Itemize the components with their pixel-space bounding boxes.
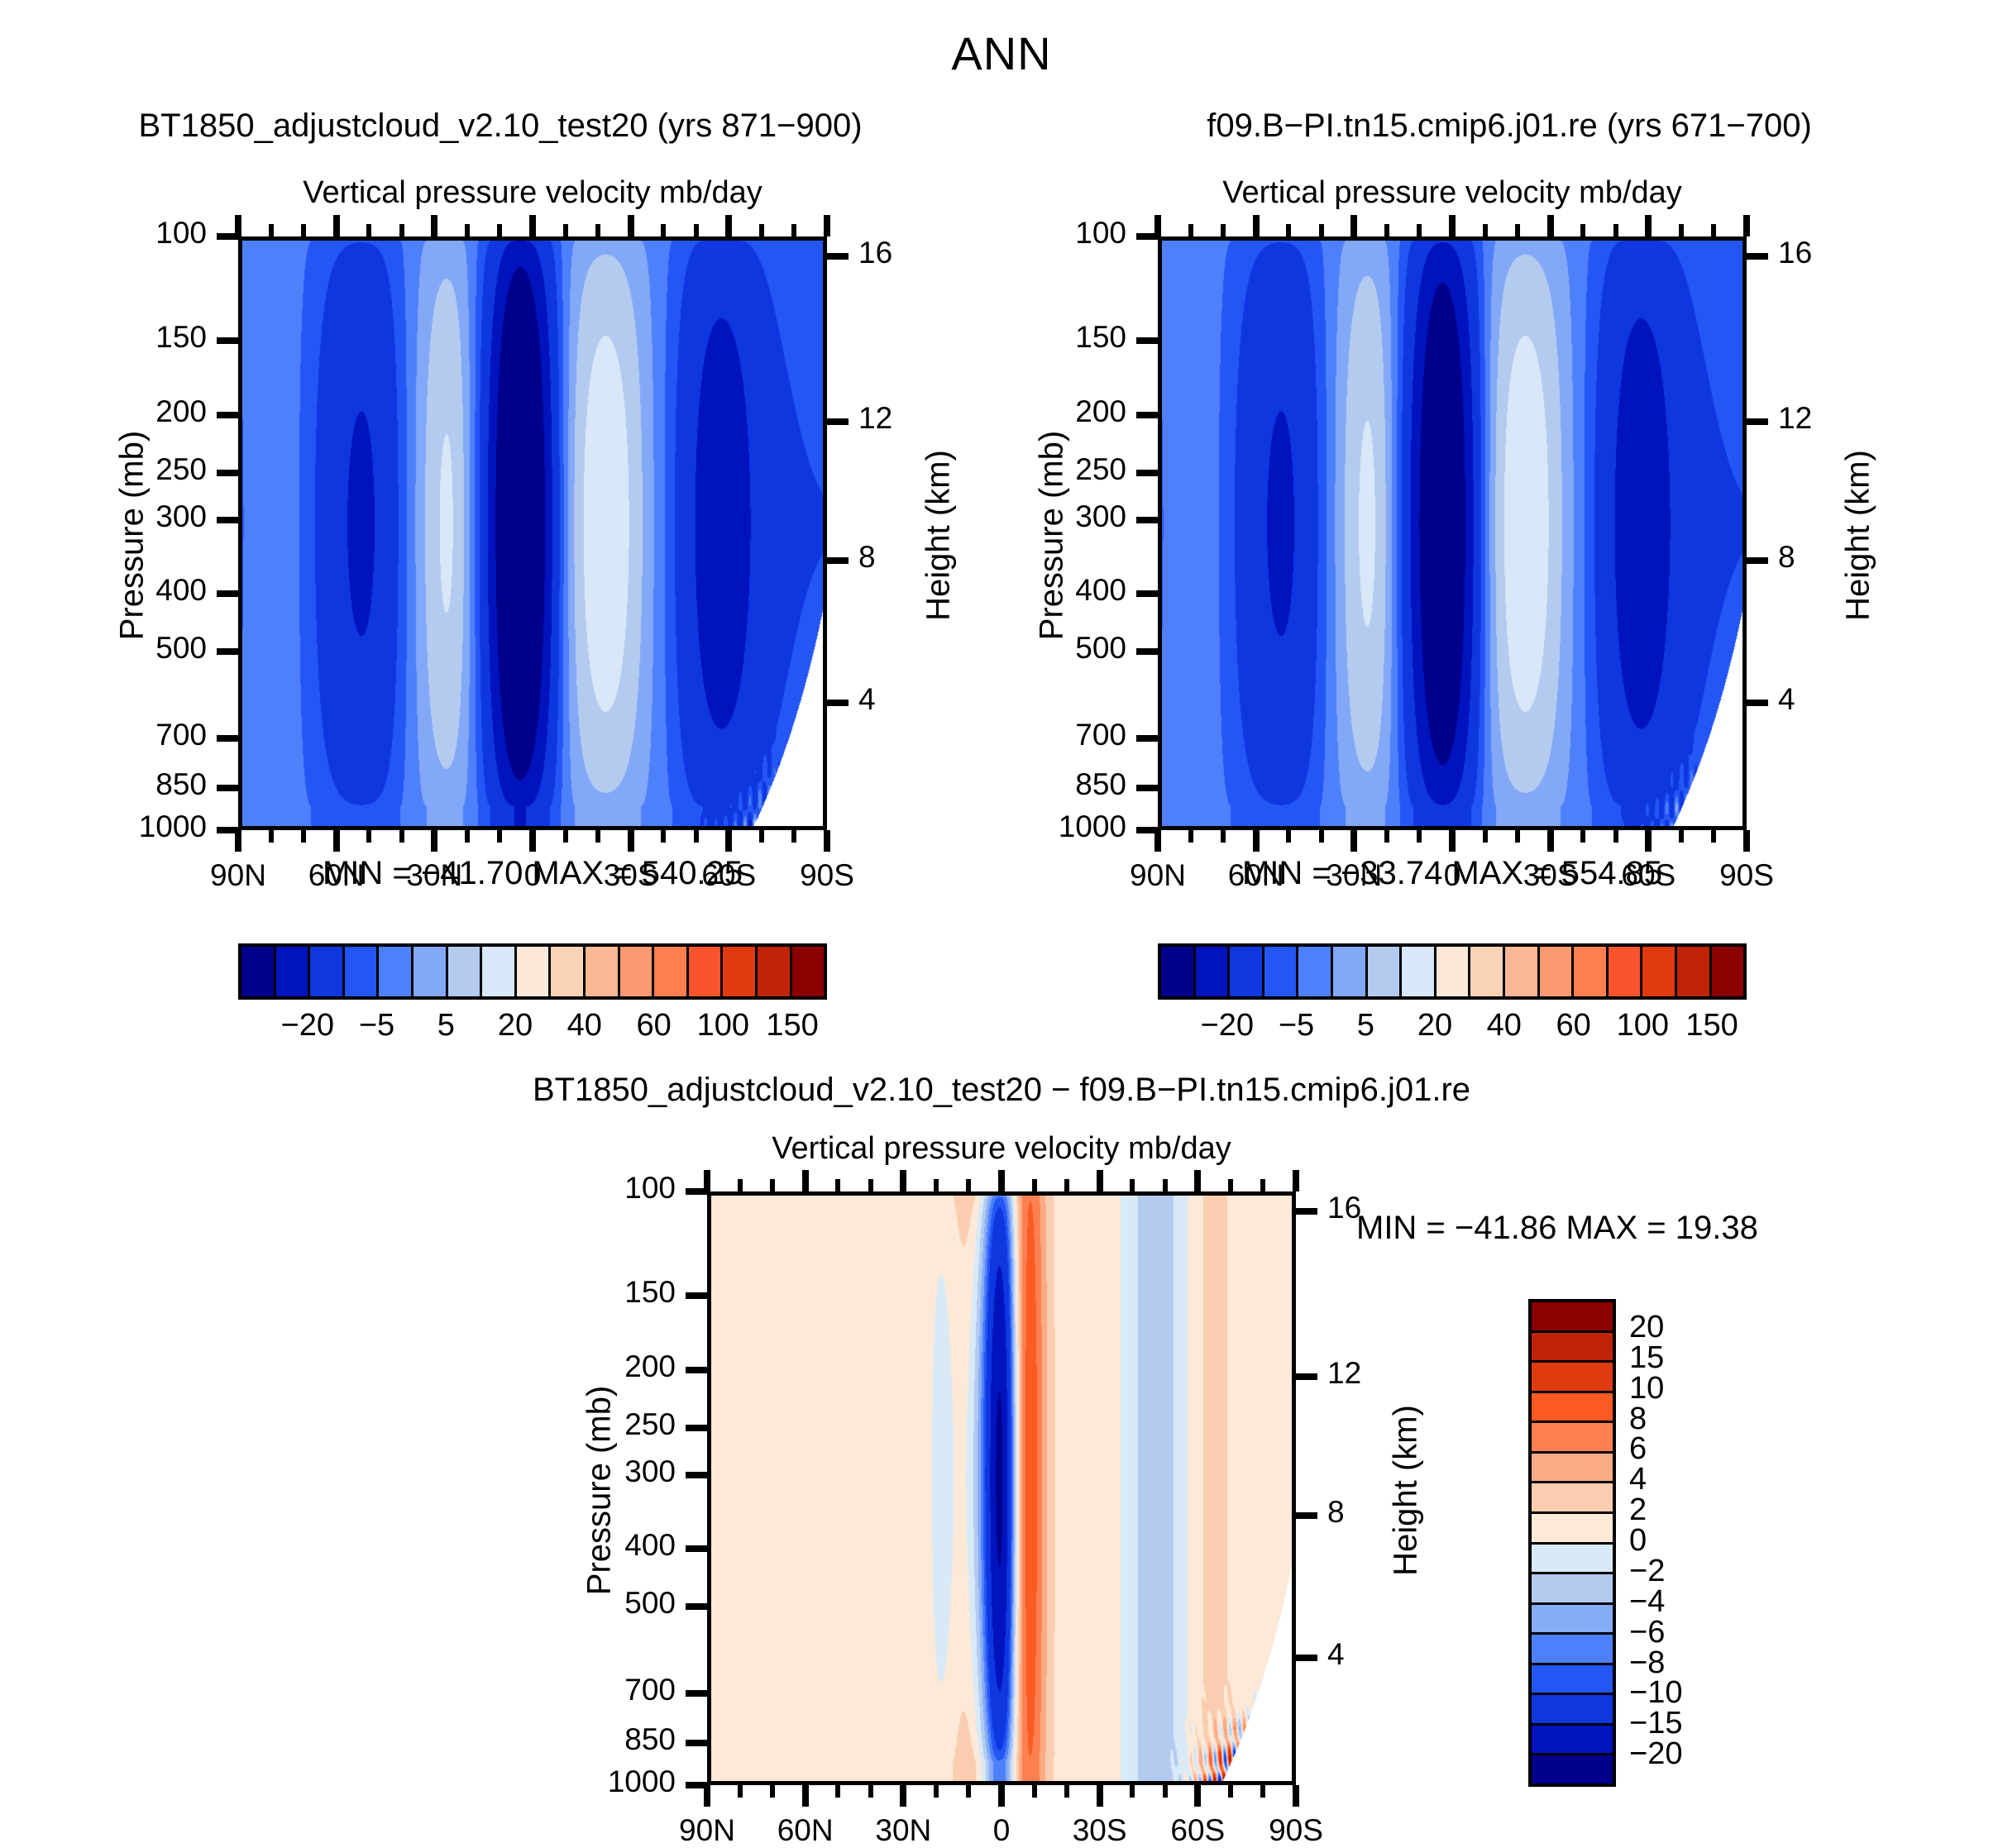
colorbar-cell-10: [1505, 947, 1540, 996]
xtick-mark-50: [366, 830, 371, 843]
xtick-mark--20: [595, 830, 600, 843]
xtick-mark-10: [497, 830, 502, 843]
panel-top-right-colorbar-labels: −20−55204060100150: [1158, 1008, 1747, 1049]
xtick-top-mark--40: [661, 224, 666, 236]
panel-top-right-contour-canvas: [1162, 241, 1747, 830]
ytick-mark-300: [686, 1472, 707, 1478]
colorbar-cell-2: [1230, 947, 1264, 996]
xtick-mark-80: [738, 1785, 743, 1798]
xtick-mark-40: [1319, 830, 1324, 843]
xtick-mark--40: [1130, 1785, 1135, 1798]
xtick-top-mark-70: [770, 1179, 775, 1191]
ytick-mark-250: [217, 470, 238, 476]
xtick-mark--30: [1547, 830, 1554, 852]
ytick-mark-400: [217, 590, 238, 597]
ytick-label-850: 850: [459, 1722, 676, 1757]
xtick-top-mark--80: [1711, 224, 1716, 236]
xtick-mark-20: [465, 830, 470, 843]
colorbar-label-150: 150: [1650, 1008, 1774, 1043]
ytick-mark-300: [217, 517, 238, 523]
colorbar-cell-9: [1470, 947, 1505, 996]
ytick-label-300: 300: [459, 1454, 676, 1489]
xtick-mark--90: [824, 830, 830, 852]
xtick-top-mark--70: [759, 224, 764, 236]
xtick-top-mark-90: [1154, 215, 1161, 236]
xtick-mark--70: [759, 830, 764, 843]
colorbar-cell-8: [1437, 947, 1471, 996]
xtick-top-mark-90: [704, 1170, 710, 1191]
colorbar-cell-13: [1609, 947, 1643, 996]
xtick-top-mark-40: [868, 1179, 873, 1191]
htick-mark-16: [1747, 253, 1768, 260]
xtick-top-mark-20: [934, 1179, 939, 1191]
htick-mark-12: [1296, 1373, 1317, 1380]
htick-label-12: 12: [1327, 1356, 1427, 1391]
xtick-mark--80: [1260, 1785, 1265, 1798]
xtick-top-mark-70: [301, 224, 306, 236]
htick-label-8: 8: [1778, 540, 1877, 575]
xtick-mark-60: [1253, 830, 1260, 852]
htick-label-8: 8: [1327, 1495, 1427, 1530]
colorbar-cell-16: [792, 947, 825, 996]
xtick-label-90S: 90S: [1221, 1813, 1370, 1848]
xtick-top-mark-90: [235, 215, 241, 236]
xtick-top-mark--10: [1483, 224, 1488, 236]
xtick-mark-60: [333, 830, 340, 852]
htick-label-8: 8: [858, 540, 958, 575]
xtick-top-mark-30: [1350, 215, 1357, 236]
xtick-mark-40: [399, 830, 404, 843]
ytick-label-100: 100: [910, 216, 1126, 251]
colorbar-cell-2: [310, 947, 345, 996]
xtick-mark-30: [1350, 830, 1357, 852]
colorbar-cell-12: [1574, 947, 1609, 996]
ytick-label-150: 150: [910, 320, 1126, 355]
colorbar-cell-16: [1712, 947, 1744, 996]
htick-mark-8: [827, 557, 849, 564]
xtick-top-mark-50: [366, 224, 371, 236]
xtick-mark--40: [661, 830, 666, 843]
ytick-label-200: 200: [459, 1349, 676, 1384]
colorbar-cell-3: [345, 947, 380, 996]
colorbar-diff-cell-14: [1532, 1726, 1613, 1756]
htick-mark-12: [827, 418, 849, 425]
xtick-top-mark-20: [1384, 224, 1389, 236]
xtick-top-mark--50: [1613, 224, 1618, 236]
colorbar-cell-5: [414, 947, 448, 996]
ytick-label-400: 400: [0, 573, 207, 608]
colorbar-cell-15: [1677, 947, 1712, 996]
htick-mark-4: [1296, 1655, 1317, 1661]
xtick-mark--60: [1194, 1785, 1201, 1807]
ytick-mark-200: [1136, 412, 1158, 418]
xtick-mark--30: [1097, 1785, 1103, 1807]
xtick-top-mark--60: [1645, 215, 1652, 236]
colorbar-diff-cell-5: [1532, 1454, 1613, 1484]
xtick-mark--90: [1743, 830, 1750, 852]
colorbar-diff-cell-12: [1532, 1665, 1613, 1696]
xtick-label-90S: 90S: [1672, 858, 1821, 893]
panel-top-right-title: f09.B−PI.tn15.cmip6.j01.re (yrs 671−700): [1042, 107, 1977, 145]
htick-label-4: 4: [1778, 682, 1877, 717]
colorbar-cell-5: [1333, 947, 1368, 996]
xtick-top-mark-80: [269, 224, 274, 236]
panel-top-left-colorbar-labels: −20−55204060100150: [238, 1008, 827, 1049]
panel-top-left-colorbar[interactable]: [238, 943, 827, 1000]
ytick-label-300: 300: [0, 499, 207, 534]
xtick-top-mark--10: [1032, 1179, 1037, 1191]
ytick-mark-700: [686, 1690, 707, 1697]
panel-bottom-colorbar[interactable]: [1528, 1299, 1616, 1787]
xtick-mark-90: [235, 830, 241, 852]
ytick-label-500: 500: [910, 631, 1126, 666]
ytick-mark-850: [686, 1740, 707, 1746]
xtick-mark--10: [563, 830, 568, 843]
colorbar-cell-15: [758, 947, 792, 996]
htick-label-4: 4: [858, 682, 958, 717]
xtick-mark-40: [868, 1785, 873, 1798]
colorbar-cell-4: [379, 947, 414, 996]
figure-root: ANN BT1850_adjustcloud_v2.10_test20 (yrs…: [0, 0, 2003, 1822]
xtick-top-mark-50: [1286, 224, 1291, 236]
htick-mark-4: [1747, 700, 1768, 706]
xtick-top-mark-60: [802, 1170, 809, 1191]
xtick-top-mark--40: [1580, 224, 1585, 236]
ytick-mark-200: [686, 1367, 707, 1373]
xtick-mark-10: [1417, 830, 1422, 843]
colorbar-cell-0: [1161, 947, 1196, 996]
colorbar-diff-label-14: −20: [1629, 1736, 1795, 1772]
xtick-mark-50: [835, 1785, 840, 1798]
xtick-mark-90: [1154, 830, 1161, 852]
colorbar-cell-6: [448, 947, 483, 996]
xtick-mark--10: [1032, 1785, 1037, 1798]
xtick-mark--10: [1483, 830, 1488, 843]
colorbar-cell-1: [1196, 947, 1231, 996]
colorbar-cell-9: [551, 947, 586, 996]
panel-bottom-plot: [707, 1191, 1296, 1785]
ytick-label-200: 200: [910, 394, 1126, 429]
colorbar-diff-cell-11: [1532, 1635, 1613, 1665]
xtick-top-mark-70: [1221, 224, 1226, 236]
colorbar-cell-3: [1264, 947, 1299, 996]
panel-bottom-var-title: Vertical pressure velocity mb/day: [707, 1131, 1296, 1167]
htick-mark-16: [1296, 1208, 1317, 1215]
xtick-top-mark-10: [497, 224, 502, 236]
xtick-mark--60: [1645, 830, 1652, 852]
ytick-mark-500: [1136, 648, 1158, 655]
colorbar-diff-cell-7: [1532, 1514, 1613, 1545]
ytick-mark-250: [686, 1425, 707, 1431]
xtick-top-mark-0: [998, 1170, 1005, 1191]
xtick-mark-20: [1384, 830, 1389, 843]
panel-bottom-minmax: MIN = −41.86 MAX = 19.38: [1356, 1210, 1869, 1247]
ytick-mark-850: [1136, 785, 1158, 791]
xtick-top-mark--70: [1679, 224, 1684, 236]
xtick-mark--80: [791, 830, 796, 843]
xtick-top-mark--30: [1097, 1170, 1103, 1191]
panel-top-left-contour-canvas: [242, 241, 827, 830]
colorbar-diff-cell-3: [1532, 1393, 1613, 1424]
ytick-mark-500: [217, 648, 238, 655]
colorbar-cell-1: [276, 947, 311, 996]
xtick-mark--90: [1293, 1785, 1299, 1807]
ytick-label-500: 500: [0, 631, 207, 666]
colorbar-diff-cell-13: [1532, 1695, 1613, 1726]
xtick-top-mark-0: [529, 215, 536, 236]
colorbar-diff-cell-4: [1532, 1423, 1613, 1454]
ytick-label-250: 250: [0, 452, 207, 487]
xtick-mark--50: [1613, 830, 1618, 843]
panel-top-right-plot: [1158, 236, 1747, 830]
xtick-top-mark-80: [1188, 224, 1193, 236]
figure-suptitle: ANN: [0, 26, 2003, 80]
xtick-top-mark-60: [333, 215, 340, 236]
xtick-top-mark-20: [465, 224, 470, 236]
xtick-mark-0: [1449, 830, 1456, 852]
colorbar-cell-12: [654, 947, 689, 996]
xtick-mark-30: [431, 830, 437, 852]
xtick-top-mark--20: [1064, 1179, 1069, 1191]
panel-top-left-title: BT1850_adjustcloud_v2.10_test20 (yrs 871…: [33, 107, 968, 145]
xtick-top-mark-60: [1253, 215, 1260, 236]
htick-label-16: 16: [1778, 236, 1877, 270]
xtick-top-mark--50: [694, 224, 699, 236]
colorbar-diff-cell-8: [1532, 1545, 1613, 1575]
xtick-top-mark--80: [1260, 1179, 1265, 1191]
ytick-mark-700: [217, 735, 238, 742]
ytick-label-250: 250: [459, 1407, 676, 1442]
panel-top-right-colorbar[interactable]: [1158, 943, 1747, 1000]
colorbar-cell-13: [689, 947, 724, 996]
colorbar-cell-6: [1368, 947, 1403, 996]
xtick-mark--50: [1163, 1785, 1168, 1798]
colorbar-cell-8: [517, 947, 552, 996]
xtick-top-mark--60: [725, 215, 732, 236]
xtick-mark-90: [704, 1785, 710, 1807]
xtick-top-mark-30: [900, 1170, 906, 1191]
ytick-label-150: 150: [0, 320, 207, 355]
ytick-mark-400: [686, 1545, 707, 1552]
ytick-label-400: 400: [459, 1528, 676, 1563]
xtick-top-mark--70: [1228, 1179, 1233, 1191]
xtick-top-mark-40: [399, 224, 404, 236]
ytick-label-200: 200: [0, 394, 207, 429]
ytick-label-1000: 1000: [0, 809, 207, 844]
panel-bottom-contour-canvas: [711, 1196, 1296, 1785]
colorbar-label-150: 150: [730, 1008, 854, 1043]
ytick-label-300: 300: [910, 499, 1126, 534]
colorbar-cell-7: [1402, 947, 1437, 996]
panel-top-left-plot: [238, 236, 827, 830]
htick-mark-8: [1747, 557, 1768, 564]
xtick-mark-70: [301, 830, 306, 843]
xtick-mark--20: [1515, 830, 1520, 843]
xtick-top-mark--50: [1163, 1179, 1168, 1191]
ytick-mark-250: [1136, 470, 1158, 476]
ytick-label-850: 850: [910, 767, 1126, 802]
ytick-label-700: 700: [910, 718, 1126, 752]
colorbar-cell-14: [723, 947, 758, 996]
htick-label-12: 12: [1778, 401, 1877, 436]
colorbar-diff-cell-15: [1532, 1755, 1613, 1784]
ytick-label-400: 400: [910, 573, 1126, 608]
xtick-top-mark-40: [1319, 224, 1324, 236]
ytick-mark-400: [1136, 590, 1158, 597]
ytick-mark-150: [686, 1292, 707, 1299]
xtick-top-mark-30: [431, 215, 437, 236]
htick-mark-4: [827, 700, 849, 706]
xtick-mark-60: [802, 1785, 809, 1807]
xtick-top-mark--10: [563, 224, 568, 236]
colorbar-cell-7: [482, 947, 517, 996]
xtick-mark--40: [1580, 830, 1585, 843]
ytick-mark-500: [686, 1603, 707, 1610]
xtick-top-mark--30: [628, 215, 634, 236]
colorbar-diff-cell-1: [1532, 1333, 1613, 1363]
htick-mark-16: [827, 253, 849, 260]
xtick-top-mark-50: [835, 1179, 840, 1191]
colorbar-cell-11: [620, 947, 655, 996]
xtick-top-mark--90: [1293, 1170, 1299, 1191]
xtick-top-mark--40: [1130, 1179, 1135, 1191]
colorbar-diff-cell-10: [1532, 1605, 1613, 1636]
xtick-mark--50: [694, 830, 699, 843]
ytick-mark-150: [1136, 337, 1158, 344]
xtick-top-mark--90: [1743, 215, 1750, 236]
xtick-top-mark-10: [966, 1179, 971, 1191]
ytick-label-700: 700: [0, 718, 207, 752]
ytick-label-700: 700: [459, 1673, 676, 1707]
xtick-top-mark-0: [1449, 215, 1456, 236]
ytick-label-250: 250: [910, 452, 1126, 487]
ytick-mark-200: [217, 412, 238, 418]
xtick-mark--30: [628, 830, 634, 852]
xtick-top-mark--80: [791, 224, 796, 236]
colorbar-diff-cell-2: [1532, 1363, 1613, 1393]
panel-top-right-var-title: Vertical pressure velocity mb/day: [1158, 175, 1747, 211]
ytick-label-850: 850: [0, 767, 207, 802]
xtick-mark-70: [770, 1785, 775, 1798]
xtick-mark-30: [900, 1785, 906, 1807]
colorbar-cell-0: [241, 947, 276, 996]
colorbar-diff-cell-0: [1532, 1302, 1613, 1333]
colorbar-cell-11: [1540, 947, 1575, 996]
xtick-top-mark-80: [738, 1179, 743, 1191]
ytick-label-1000: 1000: [459, 1764, 676, 1799]
colorbar-diff-cell-6: [1532, 1483, 1613, 1514]
ytick-mark-700: [1136, 735, 1158, 742]
xtick-top-mark-10: [1417, 224, 1422, 236]
colorbar-cell-14: [1642, 947, 1677, 996]
xtick-mark--70: [1679, 830, 1684, 843]
htick-label-16: 16: [1327, 1191, 1427, 1225]
xtick-mark--80: [1711, 830, 1716, 843]
xtick-top-mark--30: [1547, 215, 1554, 236]
colorbar-cell-4: [1298, 947, 1333, 996]
htick-label-4: 4: [1327, 1637, 1427, 1672]
xtick-mark-20: [934, 1785, 939, 1798]
panel-top-left-var-title: Vertical pressure velocity mb/day: [238, 175, 827, 211]
ytick-mark-300: [1136, 517, 1158, 523]
xtick-mark-0: [998, 1785, 1005, 1807]
colorbar-diff-cell-9: [1532, 1574, 1613, 1605]
panel-bottom-colorbar-labels: 20151086420−2−4−6−8−10−15−20: [1629, 1299, 1811, 1787]
xtick-mark-80: [269, 830, 274, 843]
htick-mark-12: [1747, 418, 1768, 425]
xtick-top-mark--20: [595, 224, 600, 236]
xtick-mark-70: [1221, 830, 1226, 843]
xtick-mark--20: [1064, 1785, 1069, 1798]
xtick-mark-10: [966, 1785, 971, 1798]
xtick-top-mark--90: [824, 215, 830, 236]
colorbar-cell-10: [586, 947, 620, 996]
xtick-top-mark--20: [1515, 224, 1520, 236]
xtick-mark-50: [1286, 830, 1291, 843]
ytick-label-150: 150: [459, 1275, 676, 1310]
ytick-label-500: 500: [459, 1586, 676, 1621]
ytick-label-100: 100: [0, 216, 207, 251]
htick-mark-8: [1296, 1512, 1317, 1519]
xtick-top-mark--60: [1194, 1170, 1201, 1191]
ytick-mark-850: [217, 785, 238, 791]
ytick-label-100: 100: [459, 1171, 676, 1206]
ytick-label-1000: 1000: [910, 809, 1126, 844]
xtick-mark-80: [1188, 830, 1193, 843]
xtick-label-90S: 90S: [753, 858, 901, 893]
xtick-mark-0: [529, 830, 536, 852]
xtick-mark--70: [1228, 1785, 1233, 1798]
panel-bottom-title: BT1850_adjustcloud_v2.10_test20 − f09.B−…: [340, 1072, 1663, 1109]
xtick-mark--60: [725, 830, 732, 852]
ytick-mark-150: [217, 337, 238, 344]
